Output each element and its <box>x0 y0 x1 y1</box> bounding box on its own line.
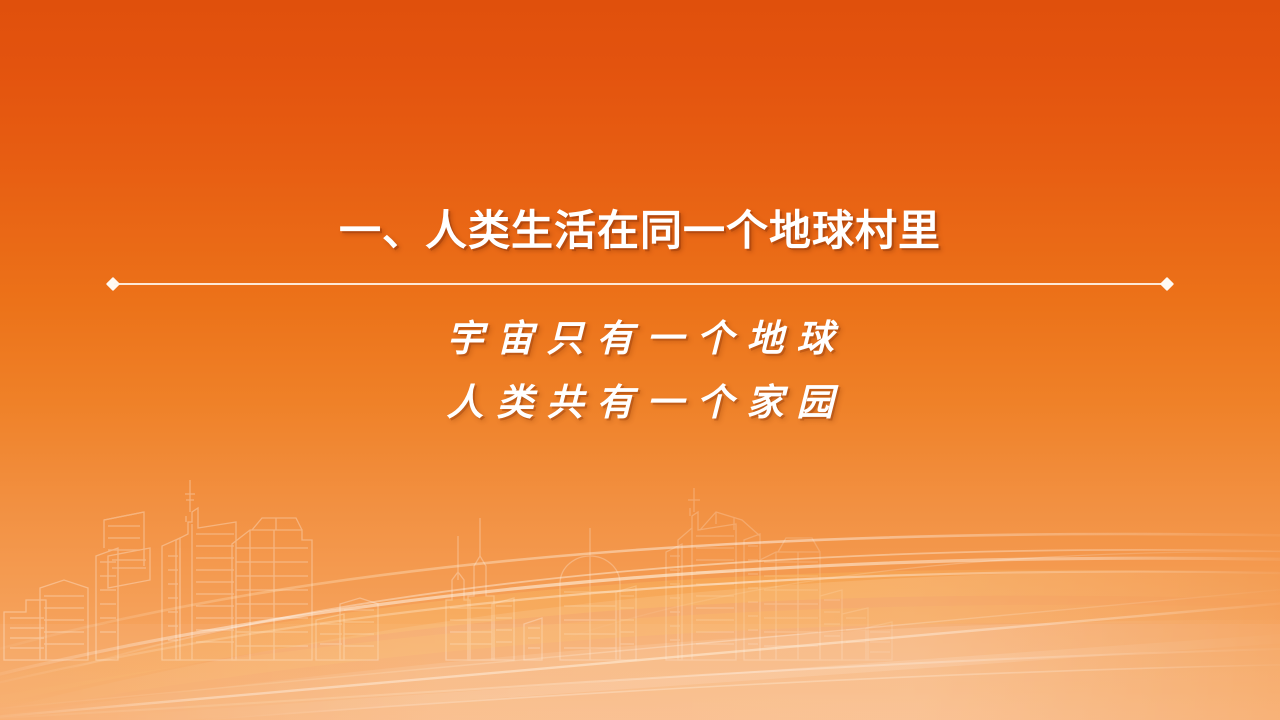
subtitle-line-2: 人类共有一个家园 <box>0 370 1280 434</box>
divider-line <box>114 283 1166 285</box>
divider-cap-right-icon <box>1160 277 1174 291</box>
slide-canvas: 一、人类生活在同一个地球村里 宇宙只有一个地球 人类共有一个家园 <box>0 0 1280 720</box>
subtitle-block: 宇宙只有一个地球 人类共有一个家园 <box>0 306 1280 434</box>
title-block: 一、人类生活在同一个地球村里 <box>0 206 1280 256</box>
subtitle-line-1: 宇宙只有一个地球 <box>0 306 1280 370</box>
page-title: 一、人类生活在同一个地球村里 <box>0 206 1280 256</box>
divider <box>108 278 1172 290</box>
